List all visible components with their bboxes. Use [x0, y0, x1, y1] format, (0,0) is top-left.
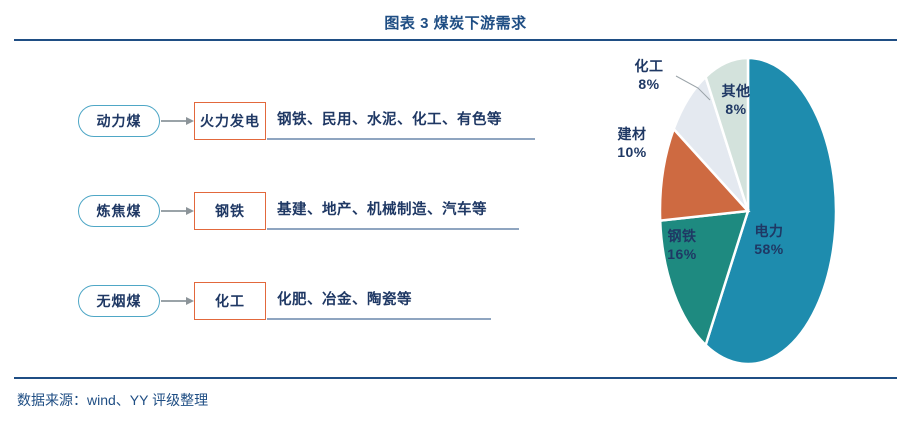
downstream-stage-box: 钢铁 [194, 192, 266, 230]
pie-label-jiancai: 建材 10% [605, 126, 659, 161]
coal-demand-pie-chart: 电力 58% 钢铁 16% 建材 10% 化工 8% 其他 8% [600, 48, 911, 373]
footer-divider [14, 377, 897, 379]
page-title: 图表 3 煤炭下游需求 [0, 12, 911, 33]
coal-type-pill: 无烟煤 [78, 285, 160, 317]
pie-label-dianli-name: 电力 [755, 223, 784, 239]
demand-underline [267, 318, 491, 320]
pie-label-gangtie-name: 钢铁 [668, 228, 697, 244]
demand-list-text: 基建、地产、机械制造、汽车等 [277, 198, 487, 219]
pie-label-qita: 其他 8% [713, 83, 759, 118]
demand-list-text: 钢铁、民用、水泥、化工、有色等 [277, 108, 502, 129]
pie-label-dianli: 电力 58% [742, 223, 796, 258]
title-divider [14, 39, 897, 41]
pie-label-gangtie-value: 16% [655, 246, 709, 264]
pie-label-huagong-value: 8% [624, 76, 674, 94]
coal-type-pill: 动力煤 [78, 105, 160, 137]
pie-label-gangtie: 钢铁 16% [655, 228, 709, 263]
flow-row: 无烟煤 化工 化肥、冶金、陶瓷等 [0, 280, 600, 344]
pie-label-huagong: 化工 8% [624, 58, 674, 93]
pie-label-dianli-value: 58% [742, 241, 796, 259]
demand-underline [267, 228, 519, 230]
pie-label-qita-value: 8% [713, 101, 759, 119]
arrow-icon [161, 300, 194, 302]
arrow-icon [161, 120, 194, 122]
pie-label-jiancai-value: 10% [605, 144, 659, 162]
arrow-icon [161, 210, 194, 212]
pie-label-huagong-name: 化工 [635, 58, 664, 74]
flow-row: 炼焦煤 钢铁 基建、地产、机械制造、汽车等 [0, 190, 600, 254]
downstream-stage-box: 火力发电 [194, 102, 266, 140]
flow-row: 动力煤 火力发电 钢铁、民用、水泥、化工、有色等 [0, 100, 600, 164]
demand-list-text: 化肥、冶金、陶瓷等 [277, 288, 412, 309]
downstream-stage-box: 化工 [194, 282, 266, 320]
pie-label-jiancai-name: 建材 [618, 126, 647, 142]
demand-underline [267, 138, 535, 140]
coal-type-pill: 炼焦煤 [78, 195, 160, 227]
coal-demand-flow-diagram: 动力煤 火力发电 钢铁、民用、水泥、化工、有色等 炼焦煤 钢铁 基建、地产、机械… [0, 48, 600, 368]
source-note: 数据来源：wind、YY 评级整理 [17, 390, 208, 410]
pie-label-qita-name: 其他 [722, 83, 751, 99]
